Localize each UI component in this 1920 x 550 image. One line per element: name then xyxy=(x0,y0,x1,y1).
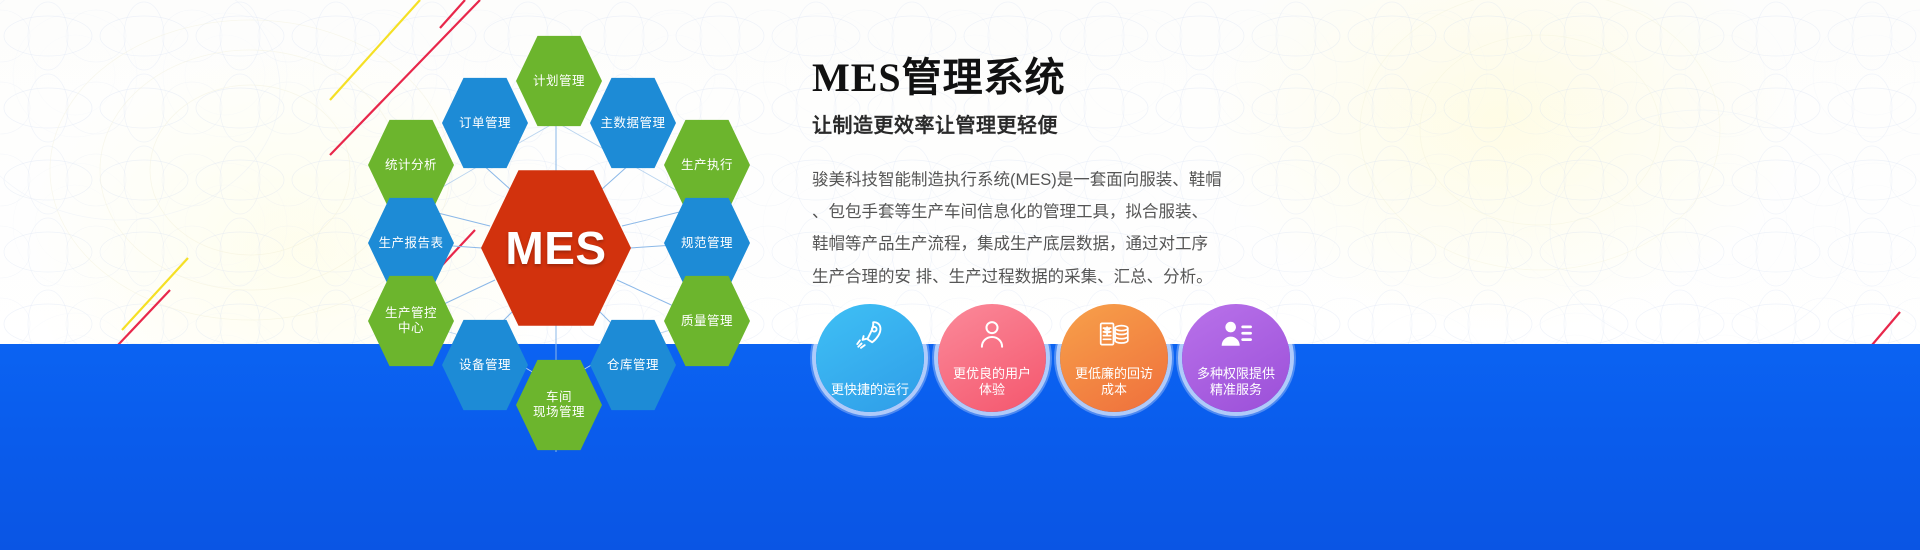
hexagon-node-label: 规范管理 xyxy=(675,236,739,251)
hexagon-node-label: 订单管理 xyxy=(453,116,517,131)
hexagon-node-label: 车间现场管理 xyxy=(527,390,591,420)
feature-badge-label: 更优良的用户体验 xyxy=(945,366,1039,399)
hexagon-node-label: 设备管理 xyxy=(453,358,517,373)
user-icon xyxy=(975,317,1009,351)
feature-badge-label: 更低廉的回访成本 xyxy=(1067,366,1161,399)
paragraph-line: 、包包手套等生产车间信息化的管理工具，拟合服装、 xyxy=(812,196,1264,228)
hexagon-node-label: 主数据管理 xyxy=(594,116,671,131)
feature-badge-2[interactable]: 更优良的用户体验 xyxy=(938,304,1046,412)
hexagon-node-label: 生产报告表 xyxy=(372,236,449,251)
feature-badge-list: 更快捷的运行更优良的用户体验更低廉的回访成本多种权限提供精准服务 xyxy=(816,304,1290,412)
hexagon-node-label: 生产执行 xyxy=(675,158,739,173)
info-panel: MES管理系统 让制造更效率让管理更轻便 骏美科技智能制造执行系统(MES)是一… xyxy=(812,56,1862,526)
feature-badge-4[interactable]: 多种权限提供精准服务 xyxy=(1182,304,1290,412)
mes-hexagon-diagram: 计划管理订单管理主数据管理统计分析生产执行生产报告表规范管理生产管控中心质量管理… xyxy=(0,0,820,550)
feature-badge-label: 更快捷的运行 xyxy=(823,382,917,398)
hexagon-node-label: 仓库管理 xyxy=(601,358,665,373)
hexagon-node-label: 计划管理 xyxy=(527,74,591,89)
banner-stage: 计划管理订单管理主数据管理统计分析生产执行生产报告表规范管理生产管控中心质量管理… xyxy=(0,0,1920,550)
description-paragraph: 骏美科技智能制造执行系统(MES)是一套面向服装、鞋帽、包包手套等生产车间信息化… xyxy=(812,164,1264,293)
mes-center-label: MES xyxy=(499,221,612,275)
hexagon-node-label: 生产管控中心 xyxy=(379,306,443,336)
rocket-icon xyxy=(853,317,887,351)
hexagon-node-label: 质量管理 xyxy=(675,314,739,329)
page-subtitle: 让制造更效率让管理更轻便 xyxy=(812,109,1862,138)
paragraph-line: 骏美科技智能制造执行系统(MES)是一套面向服装、鞋帽 xyxy=(812,164,1264,196)
feature-badge-1[interactable]: 更快捷的运行 xyxy=(816,304,924,412)
user-list-icon xyxy=(1219,317,1253,351)
paragraph-line: 鞋帽等产品生产流程，集成生产底层数据，通过对工序 xyxy=(812,228,1264,260)
hexagon-node-label: 统计分析 xyxy=(379,158,443,173)
paragraph-line: 生产合理的安 排、生产过程数据的采集、汇总、分析。 xyxy=(812,261,1264,293)
feature-badge-3[interactable]: 更低廉的回访成本 xyxy=(1060,304,1168,412)
money-icon xyxy=(1097,317,1131,351)
feature-badge-label: 多种权限提供精准服务 xyxy=(1189,366,1283,399)
page-title: MES管理系统 xyxy=(812,56,1862,100)
